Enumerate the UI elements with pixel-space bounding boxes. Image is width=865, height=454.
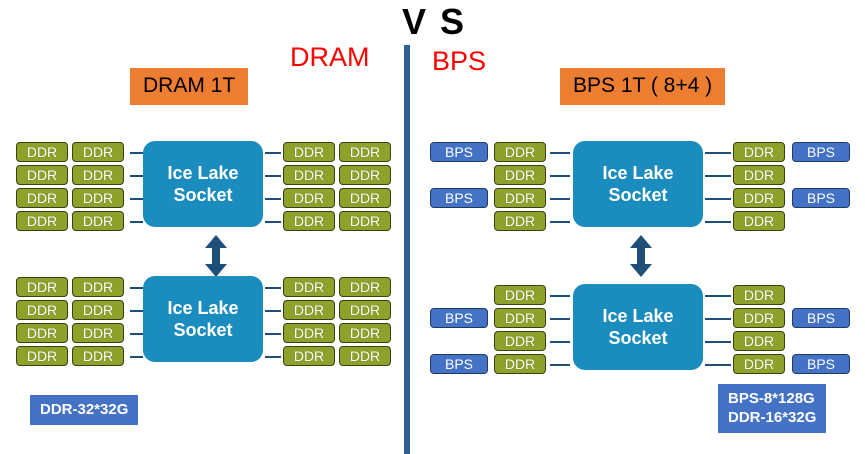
dram-config-badge: DRAM 1T [130, 68, 248, 105]
right-panel-title: BPS [432, 45, 486, 77]
memory-chip-ddr: DDR [16, 323, 68, 343]
memory-chip-ddr: DDR [16, 277, 68, 297]
socket-label-line-2: Socket [173, 184, 232, 206]
socket-connector-wire [550, 295, 570, 297]
memory-chip-ddr: DDR [16, 165, 68, 185]
memory-chip-ddr: DDR [494, 331, 546, 351]
memory-chip-bps: BPS [430, 308, 488, 328]
socket-link-arrow-right [628, 235, 654, 277]
memory-chip-ddr: DDR [72, 300, 124, 320]
memory-chip-ddr: DDR [733, 285, 785, 305]
ice-lake-socket: Ice LakeSocket [573, 141, 703, 227]
memory-chip-bps: BPS [792, 188, 850, 208]
socket-connector-wire [550, 152, 570, 154]
memory-chip-ddr: DDR [72, 165, 124, 185]
memory-chip-ddr: DDR [733, 142, 785, 162]
socket-connector-wire [265, 333, 281, 335]
socket-connector-wire [705, 152, 731, 154]
socket-connector-wire [130, 221, 143, 223]
memory-chip-ddr: DDR [339, 323, 391, 343]
bps-capacity-line-1: BPS-8*128G [728, 389, 816, 408]
dram-capacity-label: DDR-32*32G [30, 395, 138, 425]
ice-lake-socket: Ice LakeSocket [143, 276, 263, 362]
left-panel-title: DRAM [290, 41, 370, 73]
memory-chip-ddr: DDR [16, 300, 68, 320]
socket-connector-wire [550, 341, 570, 343]
memory-chip-ddr: DDR [283, 142, 335, 162]
memory-chip-ddr: DDR [283, 277, 335, 297]
memory-chip-ddr: DDR [16, 211, 68, 231]
memory-chip-ddr: DDR [339, 277, 391, 297]
bps-capacity-label: BPS-8*128G DDR-16*32G [718, 384, 826, 433]
memory-chip-ddr: DDR [494, 142, 546, 162]
ice-lake-socket: Ice LakeSocket [573, 284, 703, 370]
memory-chip-ddr: DDR [72, 142, 124, 162]
vs-title: V S [374, 2, 494, 42]
memory-chip-ddr: DDR [339, 142, 391, 162]
socket-connector-wire [265, 198, 281, 200]
socket-connector-wire [550, 175, 570, 177]
memory-chip-ddr: DDR [339, 188, 391, 208]
ice-lake-socket: Ice LakeSocket [143, 141, 263, 227]
socket-connector-wire [265, 287, 281, 289]
memory-chip-ddr: DDR [16, 346, 68, 366]
memory-chip-ddr: DDR [72, 188, 124, 208]
memory-chip-ddr: DDR [283, 188, 335, 208]
socket-label-line-2: Socket [608, 184, 667, 206]
double-headed-vertical-arrow-icon [203, 235, 229, 277]
memory-chip-ddr: DDR [72, 277, 124, 297]
memory-chip-ddr: DDR [494, 308, 546, 328]
memory-chip-ddr: DDR [733, 354, 785, 374]
memory-chip-ddr: DDR [283, 300, 335, 320]
socket-label-line-1: Ice Lake [167, 297, 238, 319]
socket-label-line-2: Socket [173, 319, 232, 341]
memory-chip-ddr: DDR [494, 285, 546, 305]
socket-link-arrow-left [203, 235, 229, 277]
memory-chip-ddr: DDR [733, 331, 785, 351]
memory-chip-ddr: DDR [72, 323, 124, 343]
double-headed-vertical-arrow-icon [628, 235, 654, 277]
socket-connector-wire [265, 221, 281, 223]
socket-connector-wire [130, 356, 143, 358]
socket-connector-wire [265, 310, 281, 312]
bps-config-badge: BPS 1T ( 8+4 ) [560, 68, 725, 105]
socket-connector-wire [705, 198, 731, 200]
socket-connector-wire [705, 175, 731, 177]
socket-connector-wire [265, 152, 281, 154]
memory-chip-ddr: DDR [733, 188, 785, 208]
socket-connector-wire [130, 175, 143, 177]
memory-chip-ddr: DDR [733, 211, 785, 231]
memory-chip-bps: BPS [792, 142, 850, 162]
memory-chip-ddr: DDR [339, 211, 391, 231]
memory-chip-ddr: DDR [733, 308, 785, 328]
memory-chip-ddr: DDR [494, 354, 546, 374]
socket-connector-wire [705, 221, 731, 223]
memory-chip-ddr: DDR [339, 165, 391, 185]
socket-connector-wire [705, 364, 731, 366]
memory-chip-ddr: DDR [16, 188, 68, 208]
socket-connector-wire [130, 287, 143, 289]
memory-chip-ddr: DDR [733, 165, 785, 185]
socket-connector-wire [550, 364, 570, 366]
memory-chip-ddr: DDR [283, 346, 335, 366]
memory-chip-ddr: DDR [283, 323, 335, 343]
memory-chip-bps: BPS [430, 142, 488, 162]
memory-chip-ddr: DDR [283, 211, 335, 231]
bps-capacity-line-2: DDR-16*32G [728, 408, 816, 427]
socket-connector-wire [265, 356, 281, 358]
socket-connector-wire [130, 310, 143, 312]
memory-chip-bps: BPS [792, 308, 850, 328]
panel-divider [404, 45, 410, 454]
socket-connector-wire [705, 295, 731, 297]
memory-chip-ddr: DDR [339, 346, 391, 366]
memory-chip-bps: BPS [792, 354, 850, 374]
socket-connector-wire [130, 198, 143, 200]
memory-chip-bps: BPS [430, 188, 488, 208]
memory-chip-ddr: DDR [494, 188, 546, 208]
socket-connector-wire [550, 198, 570, 200]
memory-chip-ddr: DDR [494, 165, 546, 185]
socket-connector-wire [705, 341, 731, 343]
memory-chip-ddr: DDR [283, 165, 335, 185]
socket-connector-wire [705, 318, 731, 320]
socket-connector-wire [130, 333, 143, 335]
memory-chip-ddr: DDR [16, 142, 68, 162]
socket-label-line-2: Socket [608, 327, 667, 349]
memory-chip-ddr: DDR [72, 346, 124, 366]
memory-chip-ddr: DDR [339, 300, 391, 320]
socket-connector-wire [550, 318, 570, 320]
memory-chip-ddr: DDR [72, 211, 124, 231]
socket-label-line-1: Ice Lake [167, 162, 238, 184]
socket-label-line-1: Ice Lake [602, 162, 673, 184]
diagram-canvas: V S DRAM BPS DRAM 1T BPS 1T ( 8+4 ) DDR-… [0, 0, 865, 454]
socket-connector-wire [130, 152, 143, 154]
socket-label-line-1: Ice Lake [602, 305, 673, 327]
socket-connector-wire [550, 221, 570, 223]
socket-connector-wire [265, 175, 281, 177]
memory-chip-ddr: DDR [494, 211, 546, 231]
memory-chip-bps: BPS [430, 354, 488, 374]
